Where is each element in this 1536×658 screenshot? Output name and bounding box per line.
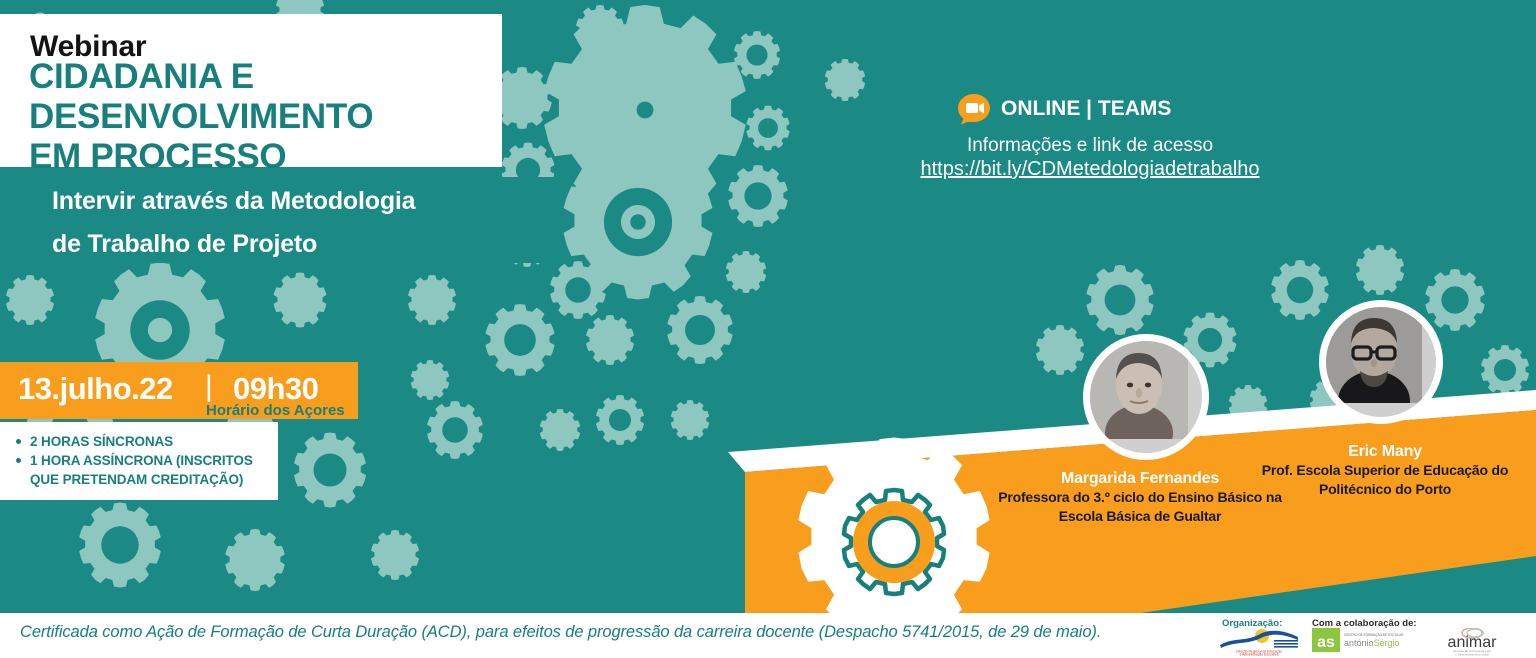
video-chat-icon <box>957 93 991 125</box>
logo-dre: Direção Regional da Educação e Administr… <box>1216 628 1302 656</box>
access-link[interactable]: https://bit.ly/CDMetedologiadetrabalho <box>830 158 1350 181</box>
page-subtitle: Intervir através da Metodologia de Traba… <box>52 180 572 266</box>
platform-row: ONLINE | TEAMS <box>957 93 1171 125</box>
page-title: CIDADANIA E DESENVOLVIMENTO EM PROCESSO <box>29 57 499 177</box>
logo-dre-caption-2: e Administração Educativa <box>1240 653 1279 656</box>
logo-as: as CENTRO DE FORMAÇÃO DE ESCOLAS antónio… <box>1312 626 1410 654</box>
title-line-1: CIDADANIA E <box>29 57 499 97</box>
list-item: 2 HORAS SÍNCRONAS <box>14 432 282 451</box>
logo-animar-caption-2: o Desenvolvimento Local <box>1455 652 1489 656</box>
title-line-2: DESENVOLVIMENTO <box>29 97 499 137</box>
schedule-separator: | <box>205 370 213 404</box>
access-info-text: Informações e link de acesso <box>890 135 1290 157</box>
list-item: 1 HORA ASSÍNCRONA (INSCRITOS QUE PRETEND… <box>14 451 282 489</box>
speaker-portrait-eric <box>1319 300 1443 424</box>
logo-as-caption-a: antónioSérgio <box>1344 638 1400 648</box>
logo-animar: animar Associação Portuguesa para o Dese… <box>1420 628 1524 656</box>
logo-as-caption-top: CENTRO DE FORMAÇÃO DE ESCOLAS <box>1344 632 1403 637</box>
subtitle-line-2: de Trabalho de Projeto <box>52 223 572 266</box>
logo-as-caption-b: Sérgio <box>1374 638 1400 648</box>
logo-as-mark: as <box>1317 634 1335 651</box>
speaker-portrait-margarida <box>1083 334 1209 460</box>
platform-label: ONLINE | TEAMS <box>1001 97 1171 121</box>
event-date: 13.julho.22 <box>18 371 173 407</box>
speaker-role-2: Prof. Escola Superior de Educação do Pol… <box>1245 461 1525 499</box>
title-line-3: EM PROCESSO <box>29 137 499 177</box>
event-timezone: Horário dos Açores <box>206 402 345 419</box>
hours-list: 2 HORAS SÍNCRONAS 1 HORA ASSÍNCRONA (INS… <box>14 432 282 489</box>
subtitle-line-1: Intervir através da Metodologia <box>52 180 572 223</box>
webinar-banner: Webinar CIDADANIA E DESENVOLVIMENTO EM P… <box>0 0 1536 658</box>
certification-note: Certificada como Ação de Formação de Cur… <box>20 623 1190 642</box>
speaker-name-2: Eric Many <box>1285 443 1485 461</box>
